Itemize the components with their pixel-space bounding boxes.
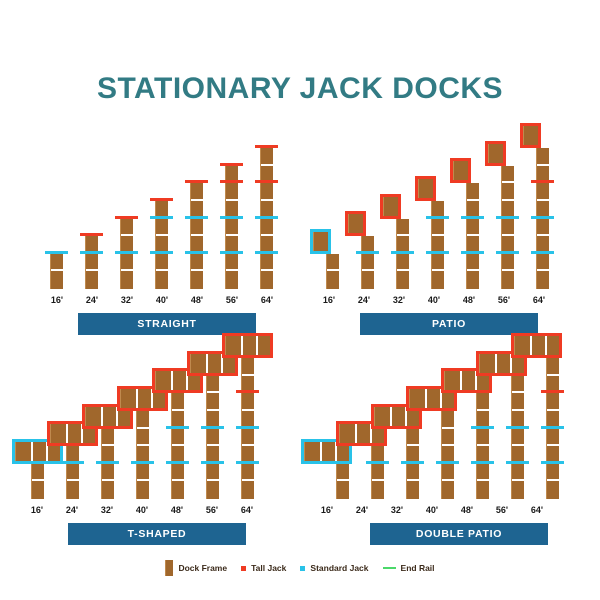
dock-double-patio-64ft[interactable]: 64' [520,365,554,515]
dock-figure [312,226,346,289]
frame-seam [242,374,254,376]
dock-figure [485,348,519,499]
dock-t-shaped-56ft[interactable]: 56' [195,365,229,515]
tall-marker [531,180,554,183]
frame-seam [547,479,559,481]
dock-size-label: 32' [110,295,144,305]
dock-figure [450,365,484,499]
frame-seam [502,199,514,201]
tall-jack-marker [520,145,541,148]
frame-seam [226,269,238,271]
dock-stem [190,183,203,289]
tall-jack-marker [222,333,273,336]
page-title: STATIONARY JACK DOCKS [0,72,600,106]
dock-figure [250,120,284,289]
standard-marker [166,426,189,429]
dock-figure [40,226,74,289]
dock-figure [345,418,379,499]
dock-straight-24ft[interactable]: 24' [75,155,109,305]
frame-seam [467,269,479,271]
standard-marker [236,426,259,429]
frame-seam [172,444,184,446]
standard-marker [255,216,278,219]
frame-seam [121,234,133,236]
dock-stem [206,376,219,499]
tall-jack-marker [345,233,366,236]
tall-marker [150,198,173,201]
dock-stem [171,393,184,499]
dock-size-label: 64' [230,505,264,515]
standard-marker [356,251,379,254]
section-double-patio: 16'24'32'40'48'56'64' DOUBLE PATIO [310,340,585,545]
frame-seam [397,269,409,271]
frame-seam [191,199,203,201]
frame-seam [502,269,514,271]
tall-marker [255,180,278,183]
dock-size-label: 48' [450,505,484,515]
standard-marker [220,251,243,254]
tall-jack-marker [415,198,436,201]
frame-seam [327,269,339,271]
dock-figure [160,365,194,499]
section-patio: 16'24'32'40'48'56'64' PATIO [312,130,562,335]
dock-straight-32ft[interactable]: 32' [110,155,144,305]
dock-patio-64ft[interactable]: 64' [522,155,556,305]
tall-jack-marker [511,355,562,358]
standard-marker [236,461,259,464]
dock-stem [101,429,114,499]
section-t-shaped: 16'24'32'40'48'56'64' T-SHAPED [20,340,290,545]
dock-size-label: 16' [40,295,74,305]
standard-marker [496,216,519,219]
dock-stem [225,166,238,289]
frame-seam [86,269,98,271]
section-banner-label: PATIO [432,318,466,330]
dock-size-label: 56' [215,295,249,305]
dock-size-label: 64' [520,505,554,515]
section-banner-label: T-SHAPED [128,528,187,540]
standard-marker [220,216,243,219]
frame-seam [261,234,273,236]
standard-marker [496,251,519,254]
frame-seam [467,199,479,201]
standard-marker [255,251,278,254]
standard-marker [201,426,224,429]
legend: Dock Frame Tall Jack Standard Jack End R… [0,560,600,576]
dock-stem [85,236,98,289]
frame-seam [226,199,238,201]
frame-seam [191,234,203,236]
dock-straight-16ft[interactable]: 16' [40,155,74,305]
standard-marker [541,461,564,464]
frame-seam [502,234,514,236]
tall-jack-marker [380,216,401,219]
dock-group-t-shaped: 16'24'32'40'48'56'64' [20,365,290,515]
standard-marker [166,461,189,464]
dock-group-patio: 16'24'32'40'48'56'64' [312,155,562,305]
frame-seam [207,444,219,446]
dock-patio-40ft[interactable]: 40' [417,155,451,305]
tall-marker [115,216,138,219]
frame-seam [242,409,254,411]
frame-seam [156,234,168,236]
standard-marker [426,216,449,219]
dock-size-label: 56' [485,505,519,515]
frame-seam [242,479,254,481]
tall-marker [220,163,243,166]
dock-figure [347,208,381,289]
dock-t-shaped-24ft[interactable]: 24' [55,365,89,515]
dock-group-double-patio: 16'24'32'40'48'56'64' [310,365,585,515]
frame-seam [137,427,149,429]
tall-marker [541,390,564,393]
dock-double-patio-24ft[interactable]: 24' [345,365,379,515]
dock-t-shaped-64ft[interactable]: 64' [230,365,264,515]
frame-seam [226,234,238,236]
frame-seam [261,164,273,166]
section-banner-t-shaped[interactable]: T-SHAPED [68,523,246,545]
frame-seam [172,409,184,411]
tall-marker [185,180,208,183]
dock-size-label: 40' [125,505,159,515]
legend-label: Dock Frame [178,563,227,573]
frame-seam [261,199,273,201]
dock-figure [417,173,451,289]
frame-seam [467,234,479,236]
frame-seam [242,444,254,446]
legend-item-tall-jack: Tall Jack [241,563,286,573]
tall-marker [220,180,243,183]
dock-stem [50,254,63,289]
frame-seam [547,374,559,376]
standard-marker [150,216,173,219]
frame-seam [102,444,114,446]
tall-jack-marker [485,163,506,166]
tall-marker [80,233,103,236]
frame-seam [137,444,149,446]
standard-marker [185,216,208,219]
frame-seam [121,269,133,271]
dock-size-label: 24' [75,295,109,305]
dock-patio-24ft[interactable]: 24' [347,155,381,305]
dock-figure [230,330,264,499]
standard-marker [80,251,103,254]
dock-patio-56ft[interactable]: 56' [487,155,521,305]
legend-label: Tall Jack [251,563,286,573]
dock-stem [120,219,133,289]
frame-seam [397,234,409,236]
dock-figure [215,138,249,289]
legend-item-end-rail: End Rail [383,563,435,573]
dock-figure [522,120,556,289]
dock-stem [396,219,409,289]
frame-seam [537,269,549,271]
dock-double-patio-56ft[interactable]: 56' [485,365,519,515]
standard-marker [96,461,119,464]
standard-marker [150,251,173,254]
dock-figure [75,208,109,289]
dock-size-label: 24' [347,295,381,305]
dock-stem [431,201,444,289]
standard-marker [461,251,484,254]
standard-marker [461,216,484,219]
dock-patio-48ft[interactable]: 48' [452,155,486,305]
frame-seam [537,164,549,166]
frame-seam [547,444,559,446]
tall-marker [236,390,259,393]
dock-figure [125,383,159,499]
dock-size-label: 40' [145,295,179,305]
dock-double-patio-48ft[interactable]: 48' [450,365,484,515]
tall-jack-marker [450,180,471,183]
dock-size-label: 32' [380,505,414,515]
tall-jack-icon [241,566,246,571]
standard-marker [531,251,554,254]
dock-figure [55,418,89,499]
dock-figure [380,401,414,499]
dock-straight-40ft[interactable]: 40' [145,155,179,305]
frame-seam [502,181,514,183]
dock-t-shaped-48ft[interactable]: 48' [160,365,194,515]
dock-size-label: 64' [522,295,556,305]
dock-figure [110,191,144,289]
dock-stem [361,236,374,289]
standard-marker [391,251,414,254]
dock-figure [145,173,179,289]
dock-figure [452,155,486,289]
frame-seam [67,479,79,481]
dock-size-label: 24' [345,505,379,515]
frame-seam [207,391,219,393]
dock-size-label: 40' [417,295,451,305]
dock-straight-64ft[interactable]: 64' [250,155,284,305]
dock-size-label: 16' [20,505,54,515]
dock-size-label: 32' [90,505,124,515]
end-rail-icon [383,567,396,570]
frame-seam [102,479,114,481]
frame-seam [32,479,44,481]
frame-seam [207,479,219,481]
dock-stem [136,411,149,499]
legend-label: Standard Jack [310,563,368,573]
section-straight: 16'24'32'40'48'56'64' STRAIGHT [40,130,290,335]
frame-seam [432,269,444,271]
frame-seam [537,199,549,201]
dock-size-label: 48' [452,295,486,305]
dock-straight-48ft[interactable]: 48' [180,155,214,305]
dock-size-label: 56' [195,505,229,515]
dock-size-label: 24' [55,505,89,515]
dock-stem [66,446,79,499]
frame-seam [362,269,374,271]
dock-patio-16ft[interactable]: 16' [312,155,346,305]
dock-patio-32ft[interactable]: 32' [382,155,416,305]
section-banner-label: STRAIGHT [137,318,196,330]
infographic-page: STATIONARY JACK DOCKS 16'24'32'40'48'56'… [0,0,600,600]
standard-marker [185,251,208,254]
dock-frame-icon [165,560,173,576]
dock-stem [326,254,339,289]
dock-figure [195,348,229,499]
frame-seam [191,269,203,271]
tall-jack-marker [222,355,273,358]
dock-figure [415,383,449,499]
standard-marker [531,216,554,219]
dock-size-label: 48' [160,505,194,515]
tall-jack-marker [511,333,562,336]
section-banner-patio[interactable]: PATIO [360,313,538,335]
frame-seam [172,479,184,481]
dock-figure [520,330,554,499]
dock-size-label: 56' [487,295,521,305]
frame-seam [261,269,273,271]
frame-seam [432,234,444,236]
frame-seam [137,479,149,481]
frame-seam [156,269,168,271]
dock-straight-56ft[interactable]: 56' [215,155,249,305]
dock-group-straight: 16'24'32'40'48'56'64' [40,155,290,305]
standard-marker [45,251,68,254]
dock-stem [501,166,514,289]
dock-figure [487,138,521,289]
dock-size-label: 40' [415,505,449,515]
standard-marker [201,461,224,464]
legend-item-dock-frame: Dock Frame [165,560,227,576]
frame-seam [51,269,63,271]
tall-marker [255,145,278,148]
legend-label: End Rail [401,563,435,573]
standard-jack-icon [300,566,305,571]
standard-marker [426,251,449,254]
dock-size-label: 16' [310,505,344,515]
standard-marker [115,251,138,254]
dock-figure [180,155,214,289]
dock-size-label: 48' [180,295,214,305]
standard-jack-marker [310,251,331,254]
standard-marker [541,426,564,429]
dock-stem [466,183,479,289]
frame-seam [547,409,559,411]
dock-size-label: 16' [312,295,346,305]
dock-stem [31,464,44,499]
standard-marker [61,461,84,464]
dock-figure [382,191,416,289]
section-banner-label: DOUBLE PATIO [416,528,502,540]
legend-item-standard-jack: Standard Jack [300,563,368,573]
frame-seam [207,409,219,411]
dock-size-label: 64' [250,295,284,305]
section-banner-double-patio[interactable]: DOUBLE PATIO [370,523,548,545]
dock-size-label: 32' [382,295,416,305]
dock-figure [90,401,124,499]
standard-marker [131,461,154,464]
dock-stem [155,201,168,289]
frame-seam [537,234,549,236]
